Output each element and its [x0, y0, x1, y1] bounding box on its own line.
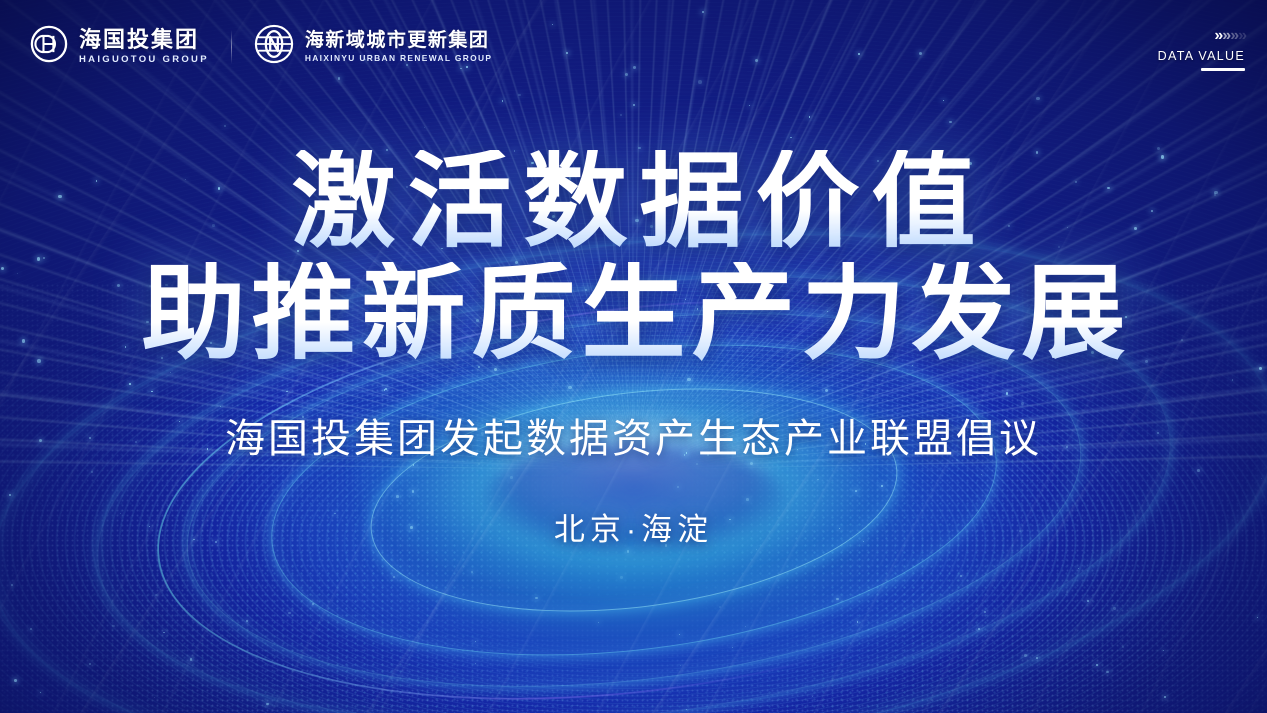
poster-canvas: 海国投集团 HAIGUOTOU GROUP — [0, 0, 1267, 713]
headline-line-1: 激活数据价值 — [279, 150, 987, 254]
headline-line-2: 助推新质生产力发展 — [135, 262, 1131, 366]
poster-main: 激活数据价值 助推新质生产力发展 海国投集团发起数据资产生态产业联盟倡议 北京·… — [0, 0, 1267, 713]
subtitle: 海国投集团发起数据资产生态产业联盟倡议 — [225, 406, 1042, 464]
location-label: 北京·海淀 — [554, 504, 713, 549]
